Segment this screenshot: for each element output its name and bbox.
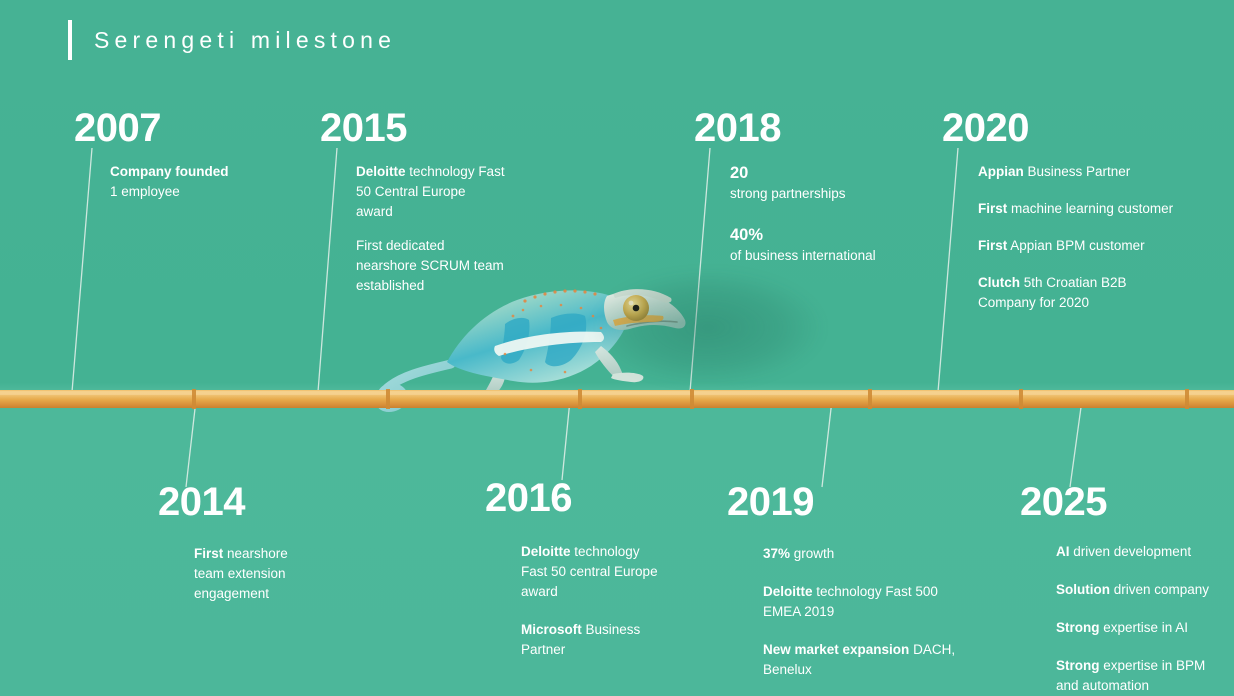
- item-text: machine learning customer: [1007, 201, 1173, 216]
- bamboo-branch: [0, 384, 1234, 414]
- milestone-2018: 2018 20 strong partnerships 40% of busin…: [694, 108, 876, 266]
- milestone-item: Solution driven company: [1056, 580, 1226, 600]
- branch-highlight: [0, 391, 1234, 395]
- milestone-item: Strong expertise in AI: [1056, 618, 1226, 638]
- milestone-item: Appian Business Partner: [978, 162, 1173, 182]
- item-text: Appian BPM customer: [1007, 238, 1144, 253]
- milestone-2020: 2020 Appian Business Partner First machi…: [942, 108, 1173, 313]
- item-bold: Deloitte: [521, 544, 571, 559]
- item-bold: Strong: [1056, 658, 1100, 673]
- milestone-year: 2020: [942, 108, 1173, 148]
- milestone-item: First machine learning customer: [978, 199, 1173, 219]
- item-bold: Solution: [1056, 582, 1110, 597]
- item-text: Business Partner: [1024, 164, 1131, 179]
- milestone-items: Deloitte technology Fast 50 central Euro…: [521, 542, 661, 660]
- milestone-item: Deloitte technology Fast 500 EMEA 2019: [763, 582, 963, 622]
- item-text: growth: [790, 546, 834, 561]
- milestone-item: AI driven development: [1056, 542, 1226, 562]
- milestone-items: Deloitte technology Fast 50 Central Euro…: [356, 162, 506, 296]
- milestone-year: 2018: [694, 108, 876, 148]
- milestone-item: 37% growth: [763, 544, 963, 564]
- item-bold: 37%: [763, 546, 790, 561]
- milestone-items: AI driven development Solution driven co…: [1056, 542, 1226, 696]
- item-text: 1 employee: [110, 184, 180, 199]
- milestone-item: First nearshore team extension engagemen…: [194, 544, 314, 604]
- item-text: First dedicated nearshore SCRUM team est…: [356, 238, 504, 293]
- milestone-2014: 2014 First nearshore team extension enga…: [158, 482, 314, 604]
- item-text: of business international: [730, 248, 876, 263]
- item-bold: Appian: [978, 164, 1024, 179]
- page-header: Serengeti milestone: [68, 20, 396, 60]
- item-bold: First: [978, 201, 1007, 216]
- milestone-item: 40% of business international: [730, 224, 876, 266]
- milestone-year: 2025: [1020, 482, 1226, 522]
- milestone-items: 20 strong partnerships 40% of business i…: [730, 162, 876, 266]
- milestone-year: 2015: [320, 108, 506, 148]
- milestone-item: Deloitte technology Fast 50 central Euro…: [521, 542, 661, 602]
- chameleon-shadow: [593, 270, 823, 385]
- item-bold: Microsoft: [521, 622, 582, 637]
- item-bold: First: [978, 238, 1007, 253]
- milestone-2015: 2015 Deloitte technology Fast 50 Central…: [320, 108, 506, 296]
- item-bold: Deloitte: [356, 164, 406, 179]
- item-text: driven company: [1110, 582, 1209, 597]
- item-bold: Company founded: [110, 164, 229, 179]
- milestone-item: New market expansion DACH, Benelux: [763, 640, 963, 680]
- item-text: driven development: [1070, 544, 1192, 559]
- milestone-item: First dedicated nearshore SCRUM team est…: [356, 236, 506, 296]
- item-bold: First: [194, 546, 223, 561]
- milestone-items: First nearshore team extension engagemen…: [194, 544, 314, 604]
- item-bold: Deloitte: [763, 584, 813, 599]
- milestone-2007: 2007 Company founded 1 employee: [74, 108, 229, 202]
- milestone-item: First Appian BPM customer: [978, 236, 1173, 256]
- item-bold: New market expansion: [763, 642, 909, 657]
- item-bold: Clutch: [978, 275, 1020, 290]
- milestone-2019: 2019 37% growth Deloitte technology Fast…: [727, 482, 963, 680]
- item-bold: Strong: [1056, 620, 1100, 635]
- page-title: Serengeti milestone: [94, 27, 396, 54]
- milestone-item: Company founded 1 employee: [110, 162, 229, 202]
- milestone-item: 20 strong partnerships: [730, 162, 876, 204]
- slide-canvas: Serengeti milestone: [0, 0, 1234, 696]
- milestone-items: Appian Business Partner First machine le…: [978, 162, 1173, 313]
- milestone-2025: 2025 AI driven development Solution driv…: [1020, 482, 1226, 696]
- milestone-item: Strong expertise in BPM and automation: [1056, 656, 1226, 696]
- item-stat: 20: [730, 162, 876, 184]
- milestone-year: 2007: [74, 108, 229, 148]
- item-bold: AI: [1056, 544, 1070, 559]
- accent-bar: [68, 20, 72, 60]
- milestone-year: 2019: [727, 482, 963, 522]
- milestone-year: 2014: [158, 482, 314, 522]
- milestone-year: 2016: [485, 478, 661, 518]
- item-text: expertise in AI: [1100, 620, 1189, 635]
- milestone-2016: 2016 Deloitte technology Fast 50 central…: [485, 478, 661, 660]
- milestone-item: Microsoft Business Partner: [521, 620, 651, 660]
- milestone-items: 37% growth Deloitte technology Fast 500 …: [763, 544, 963, 680]
- milestone-item: Clutch 5th Croatian B2B Company for 2020: [978, 273, 1150, 313]
- milestone-item: Deloitte technology Fast 50 Central Euro…: [356, 162, 506, 222]
- item-stat: 40%: [730, 224, 876, 246]
- item-text: strong partnerships: [730, 186, 846, 201]
- milestone-items: Company founded 1 employee: [110, 162, 229, 202]
